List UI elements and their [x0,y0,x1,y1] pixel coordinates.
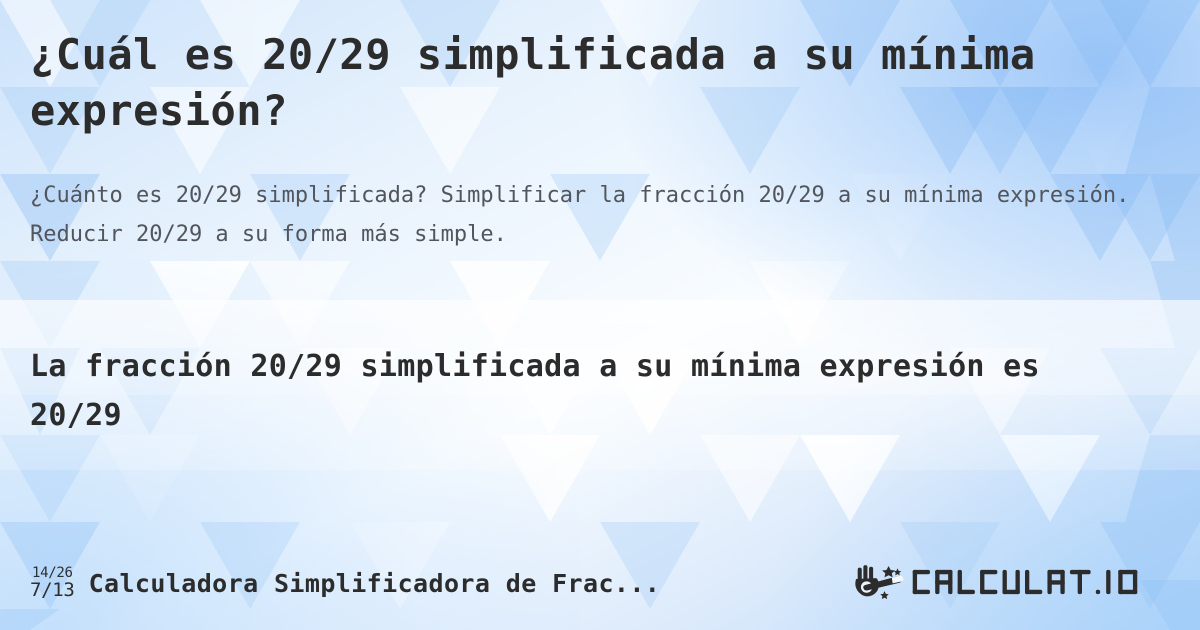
answer-statement: La fracción 20/29 simplificada a su míni… [30,342,1090,440]
footer-left-group: 14/26 7/13 Calculadora Simplificadora de… [30,566,852,600]
fraction-reduce-icon-reduced: 7/13 [30,581,75,600]
content-area: ¿Cuál es 20/29 simplificada a su mínima … [0,0,1200,630]
og-image-canvas: ¿Cuál es 20/29 simplificada a su mínima … [0,0,1200,630]
page-title: ¿Cuál es 20/29 simplificada a su mínima … [30,27,1050,139]
footer-site-title: Calculadora Simplificadora de Frac... [89,569,661,598]
page-description: ¿Cuánto es 20/29 simplificada? Simplific… [30,176,1140,254]
brand-logo[interactable] [852,563,1170,603]
footer: 14/26 7/13 Calculadora Simplificadora de… [30,558,1170,608]
fraction-reduce-icon-original: 14/26 [32,566,73,580]
fraction-reduce-icon: 14/26 7/13 [30,566,75,600]
hand-magic-wand-icon [852,563,904,603]
brand-wordmark [911,563,1170,603]
brand-wordmark-glyphs [911,563,1170,601]
